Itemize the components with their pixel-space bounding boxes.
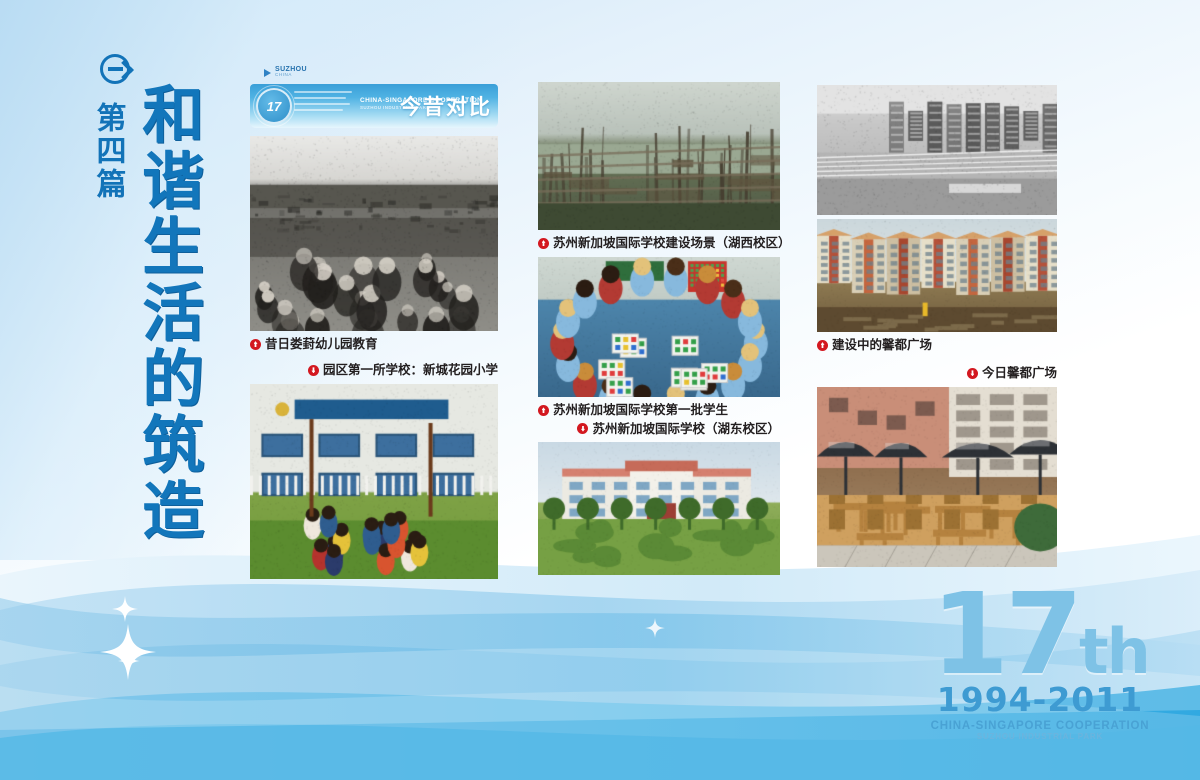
caption-text: 昔日娄葑幼儿园教育	[265, 336, 378, 352]
caption-kindergarten-past: 昔日娄葑幼儿园教育	[250, 336, 498, 352]
column-middle: 苏州新加坡国际学校建设场景（湖西校区） 苏州新加坡国际学校第一批学生 苏州新加坡…	[538, 82, 780, 575]
arrow-up-marker-icon	[250, 339, 261, 350]
banner-chinese-title: 今昔对比	[400, 91, 492, 121]
column-left: SUZHOU CHINA 17 CHINA-SINGAPORE COOPERAT…	[250, 66, 498, 579]
photo-xindu-today	[817, 387, 1057, 567]
arrow-up-marker-icon	[538, 405, 549, 416]
triangle-icon	[264, 69, 271, 77]
column-right: 建设中的馨都广场 今日馨都广场	[817, 85, 1057, 567]
arrow-up-marker-icon	[817, 340, 828, 351]
arrow-down-marker-icon	[967, 368, 978, 379]
logo-line2: CHINA	[275, 73, 307, 78]
caption-text: 园区第一所学校：新城花园小学	[323, 362, 498, 378]
caption-text: 苏州新加坡国际学校（湖东校区）	[592, 421, 780, 437]
suzhou-logo: SUZHOU CHINA	[250, 66, 498, 82]
caption-xindu-construction: 建设中的馨都广场	[817, 337, 1057, 353]
arrow-down-marker-icon	[308, 365, 319, 376]
arrow-up-marker-icon	[538, 238, 549, 249]
photo-sais-first-students	[538, 257, 780, 397]
chapter-title-block: 第四篇 和谐生活的筑造	[92, 46, 242, 566]
caption-text: 今日馨都广场	[982, 365, 1057, 381]
caption-sais-first-students: 苏州新加坡国际学校第一批学生	[538, 402, 780, 418]
caption-sais-huadong: 苏州新加坡国际学校（湖东校区）	[538, 421, 780, 437]
photo-sais-huadong	[538, 442, 780, 575]
caption-xincheng-primary: 园区第一所学校：新城花园小学	[250, 362, 498, 378]
banner-stripes-icon	[294, 91, 352, 121]
caption-text: 苏州新加坡国际学校建设场景（湖西校区）	[553, 235, 791, 251]
caption-sais-construction: 苏州新加坡国际学校建设场景（湖西校区）	[538, 235, 780, 251]
photo-xindu-bw-aerial	[817, 85, 1057, 215]
banner-bar: 17 CHINA-SINGAPORE COOPERATION SUZHOU IN…	[250, 84, 498, 128]
page-title: 和谐生活的筑造	[136, 82, 199, 544]
photo-kindergarten-past	[250, 136, 498, 331]
chapter-number-label: 第四篇	[92, 102, 124, 201]
emblem-number: 17	[267, 99, 281, 114]
photo-xindu-construction	[817, 219, 1057, 332]
caption-text: 苏州新加坡国际学校第一批学生	[553, 402, 728, 418]
circle-arrow-right-icon	[100, 54, 130, 84]
photo-sais-construction	[538, 82, 780, 230]
caption-xindu-today: 今日馨都广场	[817, 365, 1057, 381]
sip-banner: SUZHOU CHINA 17 CHINA-SINGAPORE COOPERAT…	[250, 66, 498, 128]
photo-xincheng-primary	[250, 384, 498, 579]
arrow-down-marker-icon	[577, 423, 588, 434]
sip-emblem-icon: 17	[256, 88, 292, 124]
caption-text: 建设中的馨都广场	[832, 337, 932, 353]
